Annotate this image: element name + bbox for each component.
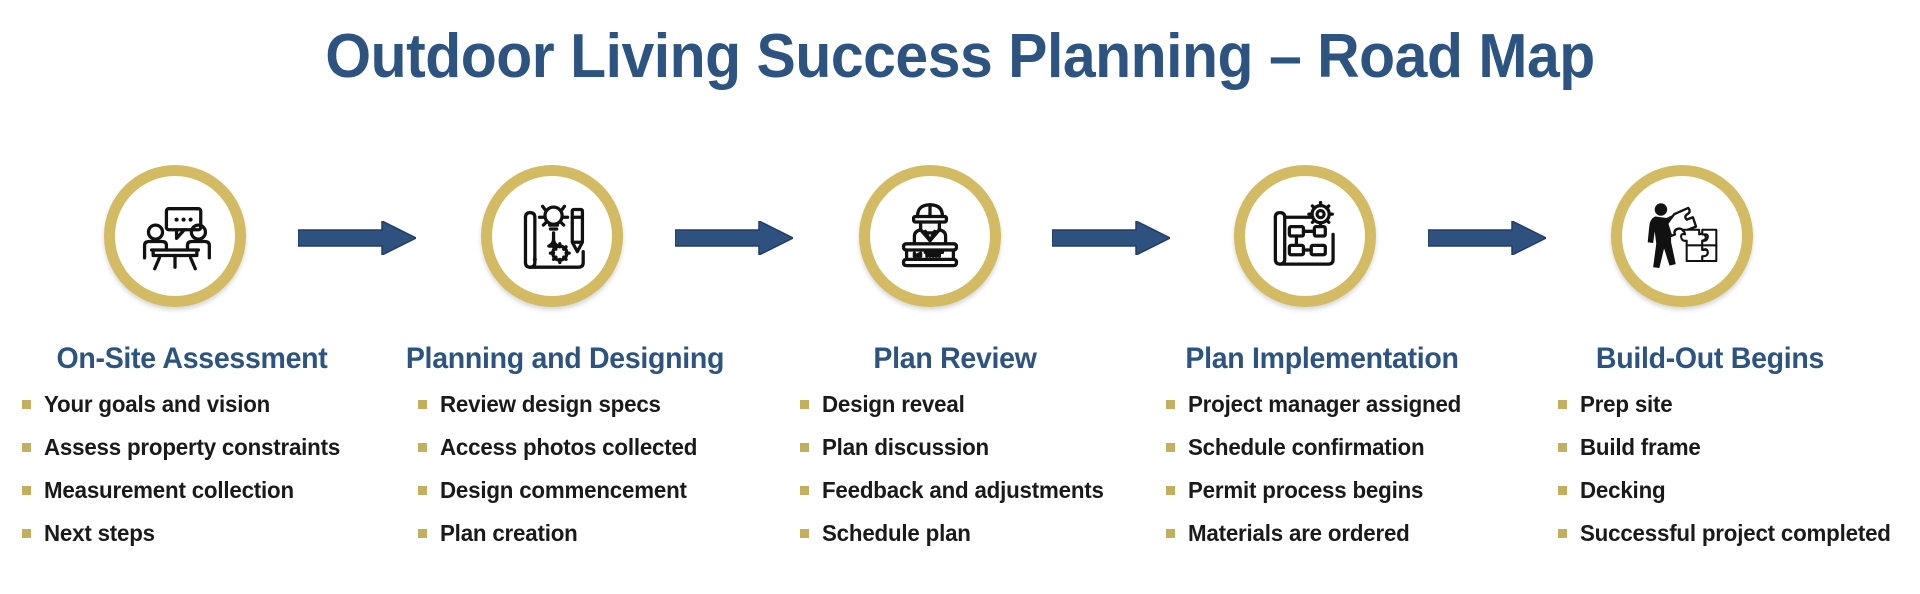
step-column-3: Plan Review Design reveal Plan discussio…: [790, 342, 1120, 565]
worker-blueprint-review-icon: [891, 197, 969, 275]
step-heading-1: On-Site Assessment: [31, 342, 354, 376]
list-item: Plan discussion: [800, 435, 1120, 459]
bullet-text: Review design specs: [440, 392, 661, 416]
list-item: Decking: [1558, 478, 1920, 502]
bullet-square-icon: [418, 443, 427, 452]
list-item: Build frame: [1558, 435, 1920, 459]
bullet-square-icon: [22, 400, 31, 409]
list-item: Measurement collection: [22, 478, 362, 502]
bullet-text: Next steps: [44, 521, 155, 545]
bullet-square-icon: [800, 400, 809, 409]
bullet-square-icon: [418, 486, 427, 495]
bullet-square-icon: [22, 486, 31, 495]
step-node-5[interactable]: [1611, 165, 1753, 307]
bullet-square-icon: [1166, 443, 1175, 452]
right-arrow-icon-2: [675, 221, 793, 255]
roadmap-infographic: Outdoor Living Success Planning – Road M…: [0, 0, 1920, 594]
bullet-square-icon: [22, 443, 31, 452]
bullet-text: Plan creation: [440, 521, 578, 545]
bullet-text: Access photos collected: [440, 435, 697, 459]
bullet-text: Measurement collection: [44, 478, 294, 502]
person-puzzle-piece-icon: [1643, 197, 1721, 275]
list-item: Your goals and vision: [22, 392, 362, 416]
bullet-text: Design reveal: [822, 392, 965, 416]
bullet-square-icon: [1558, 400, 1567, 409]
bullet-text: Schedule plan: [822, 521, 971, 545]
list-item: Project manager assigned: [1166, 392, 1492, 416]
step-bullets-3: Design reveal Plan discussion Feedback a…: [790, 392, 1120, 546]
bullet-square-icon: [800, 529, 809, 538]
step-node-3[interactable]: [859, 165, 1001, 307]
bullet-text: Design commencement: [440, 478, 687, 502]
list-item: Design commencement: [418, 478, 740, 502]
page-title: Outdoor Living Success Planning – Road M…: [48, 24, 1872, 89]
bullet-square-icon: [1558, 443, 1567, 452]
step-column-1: On-Site Assessment Your goals and vision…: [22, 342, 362, 565]
bullet-square-icon: [800, 443, 809, 452]
bullet-text: Permit process begins: [1188, 478, 1423, 502]
steps-columns: On-Site Assessment Your goals and vision…: [0, 342, 1920, 592]
blueprint-lightbulb-pencil-icon: [513, 197, 591, 275]
step-bullets-4: Project manager assigned Schedule confir…: [1152, 392, 1492, 546]
meeting-consultation-icon: [136, 197, 214, 275]
list-item: Schedule plan: [800, 521, 1120, 545]
step-heading-5: Build-Out Begins: [1549, 342, 1872, 376]
bullet-square-icon: [1166, 486, 1175, 495]
bullet-text: Successful project completed: [1580, 521, 1891, 545]
list-item: Materials are ordered: [1166, 521, 1492, 545]
bullet-text: Project manager assigned: [1188, 392, 1461, 416]
list-item: Design reveal: [800, 392, 1120, 416]
list-item: Feedback and adjustments: [800, 478, 1120, 502]
flowchart-gear-icon: [1266, 197, 1344, 275]
bullet-text: Materials are ordered: [1188, 521, 1410, 545]
bullet-square-icon: [22, 529, 31, 538]
bullet-square-icon: [800, 486, 809, 495]
bullet-text: Assess property constraints: [44, 435, 340, 459]
step-column-5: Build-Out Begins Prep site Build frame D…: [1540, 342, 1920, 565]
bullet-text: Schedule confirmation: [1188, 435, 1424, 459]
list-item: Review design specs: [418, 392, 740, 416]
list-item: Next steps: [22, 521, 362, 545]
bullet-text: Build frame: [1580, 435, 1701, 459]
list-item: Access photos collected: [418, 435, 740, 459]
bullet-square-icon: [1558, 486, 1567, 495]
bullet-text: Your goals and vision: [44, 392, 270, 416]
bullet-square-icon: [1558, 529, 1567, 538]
step-node-1[interactable]: [104, 165, 246, 307]
bullet-text: Decking: [1580, 478, 1665, 502]
bullet-square-icon: [418, 400, 427, 409]
step-heading-4: Plan Implementation: [1161, 342, 1484, 376]
list-item: Plan creation: [418, 521, 740, 545]
bullet-text: Plan discussion: [822, 435, 989, 459]
bullet-square-icon: [1166, 400, 1175, 409]
step-bullets-5: Prep site Build frame Decking Successful…: [1540, 392, 1920, 546]
bullet-square-icon: [418, 529, 427, 538]
step-node-4[interactable]: [1234, 165, 1376, 307]
step-heading-2: Planning and Designing: [399, 342, 732, 376]
step-heading-3: Plan Review: [798, 342, 1112, 376]
step-node-2[interactable]: [481, 165, 623, 307]
list-item: Prep site: [1558, 392, 1920, 416]
right-arrow-icon-3: [1052, 221, 1170, 255]
list-item: Assess property constraints: [22, 435, 362, 459]
step-bullets-1: Your goals and vision Assess property co…: [22, 392, 362, 546]
step-bullets-2: Review design specs Access photos collec…: [390, 392, 740, 546]
right-arrow-icon-4: [1428, 221, 1546, 255]
step-column-2: Planning and Designing Review design spe…: [390, 342, 740, 565]
right-arrow-icon-1: [298, 221, 416, 255]
flow-diagram: [0, 165, 1920, 305]
step-column-4: Plan Implementation Project manager assi…: [1152, 342, 1492, 565]
list-item: Permit process begins: [1166, 478, 1492, 502]
list-item: Successful project completed: [1558, 521, 1920, 545]
bullet-text: Feedback and adjustments: [822, 478, 1104, 502]
list-item: Schedule confirmation: [1166, 435, 1492, 459]
bullet-square-icon: [1166, 529, 1175, 538]
bullet-text: Prep site: [1580, 392, 1672, 416]
